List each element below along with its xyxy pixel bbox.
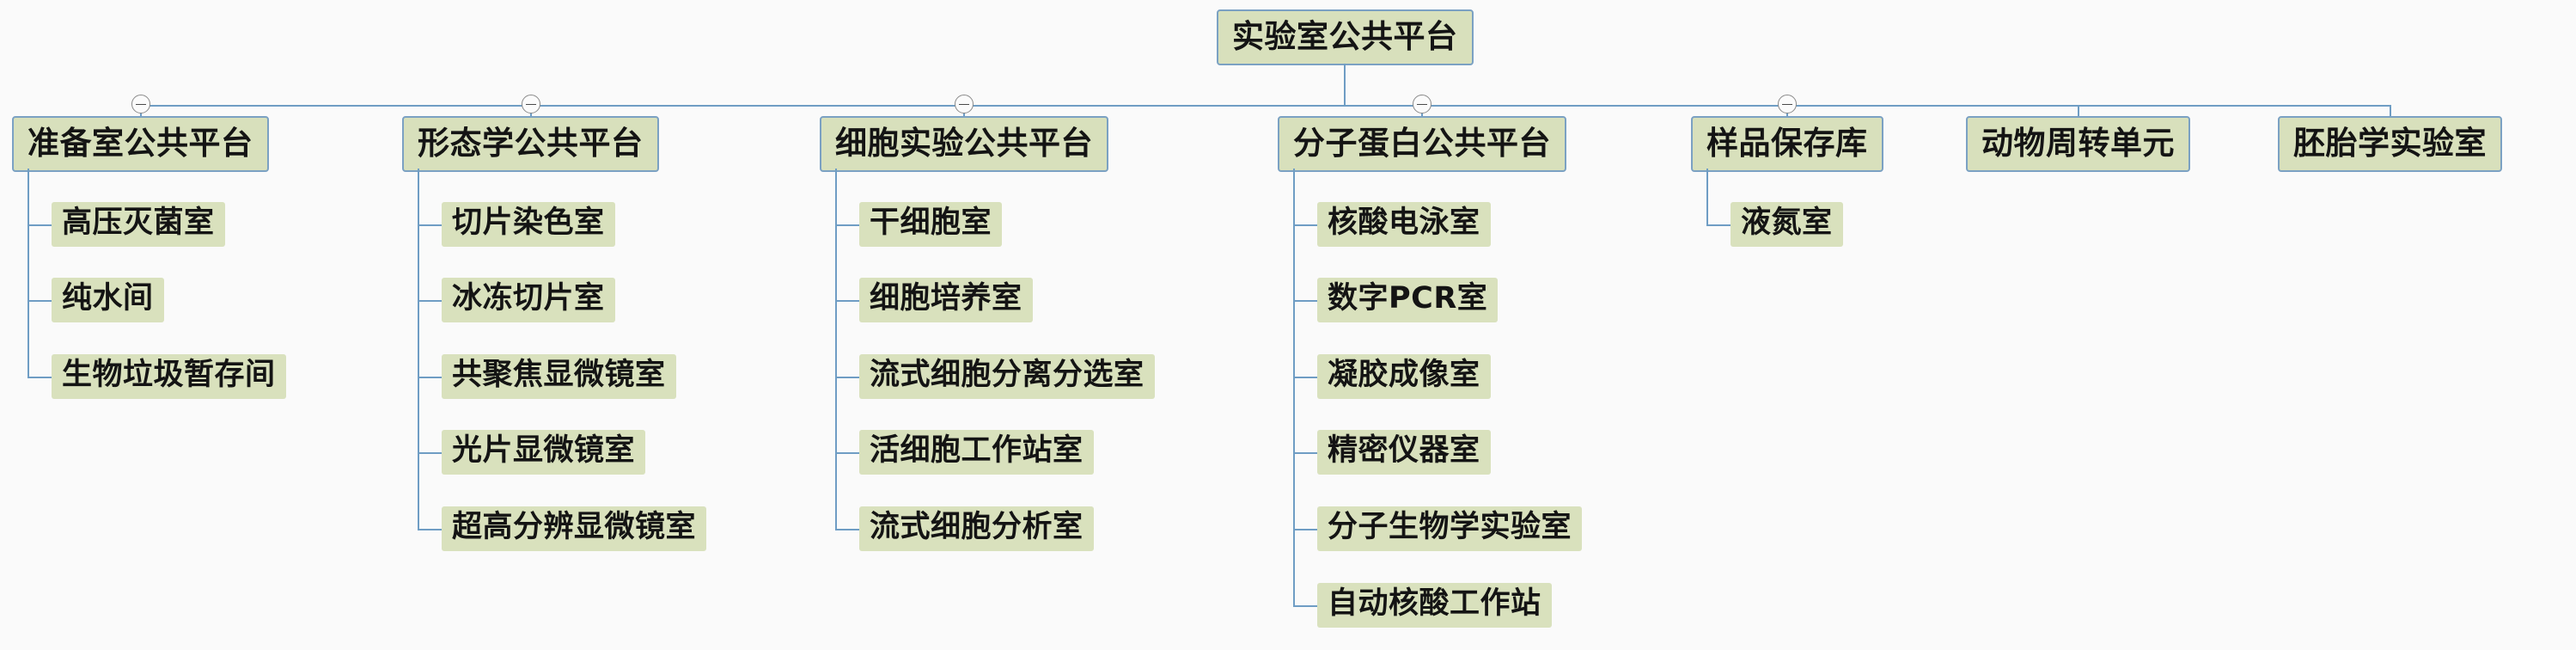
child-stub-connector-3-2 [835,300,859,302]
child-stub-connector-4-1 [1293,224,1317,226]
leaf-node-4-1[interactable]: 核酸电泳室 [1317,202,1491,247]
leaf-node-1-2[interactable]: 纯水间 [52,278,164,322]
collapse-toggle-2[interactable] [522,95,540,113]
child-stub-connector-4-2 [1293,300,1317,302]
leaf-node-2-3[interactable]: 共聚焦显微镜室 [442,354,676,399]
branch-node-6[interactable]: 动物周转单元 [1966,116,2190,172]
branch-stem-connector-6 [2078,105,2079,116]
leaf-node-3-5[interactable]: 流式细胞分析室 [859,506,1094,551]
leaf-node-3-1[interactable]: 干细胞室 [859,202,1002,247]
child-stub-connector-2-5 [418,529,442,530]
leaf-node-5-1[interactable]: 液氮室 [1731,202,1843,247]
child-spine-connector-1 [27,169,29,377]
leaf-node-3-2[interactable]: 细胞培养室 [859,278,1033,322]
child-stub-connector-4-4 [1293,452,1317,454]
child-stub-connector-5-1 [1706,224,1731,226]
child-stub-connector-2-4 [418,452,442,454]
leaf-node-4-4[interactable]: 精密仪器室 [1317,430,1491,475]
collapse-toggle-1[interactable] [131,95,150,113]
branch-stem-connector-7 [2390,105,2391,116]
branch-node-5[interactable]: 样品保存库 [1691,116,1883,172]
child-stub-connector-4-3 [1293,377,1317,378]
branch-node-3[interactable]: 细胞实验公共平台 [820,116,1108,172]
child-stub-connector-4-5 [1293,529,1317,530]
child-stub-connector-1-3 [27,377,52,378]
branch-bus-connector [140,105,2391,107]
leaf-node-3-4[interactable]: 活细胞工作站室 [859,430,1094,475]
child-stub-connector-1-2 [27,300,52,302]
leaf-node-2-4[interactable]: 光片显微镜室 [442,430,645,475]
branch-node-2[interactable]: 形态学公共平台 [402,116,659,172]
child-stub-connector-2-2 [418,300,442,302]
leaf-node-4-5[interactable]: 分子生物学实验室 [1317,506,1582,551]
branch-node-7[interactable]: 胚胎学实验室 [2278,116,2502,172]
child-spine-connector-4 [1293,169,1295,605]
leaf-node-2-1[interactable]: 切片染色室 [442,202,615,247]
root-node[interactable]: 实验室公共平台 [1217,9,1474,65]
branch-node-1[interactable]: 准备室公共平台 [12,116,269,172]
child-stub-connector-3-4 [835,452,859,454]
leaf-node-2-5[interactable]: 超高分辨显微镜室 [442,506,706,551]
child-stub-connector-2-1 [418,224,442,226]
leaf-node-4-6[interactable]: 自动核酸工作站 [1317,583,1552,628]
child-spine-connector-2 [418,169,419,529]
org-chart-canvas: 实验室公共平台准备室公共平台高压灭菌室纯水间生物垃圾暂存间形态学公共平台切片染色… [0,0,2576,650]
branch-node-4[interactable]: 分子蛋白公共平台 [1278,116,1566,172]
child-spine-connector-5 [1706,169,1708,224]
root-stem-connector [1344,64,1346,105]
collapse-toggle-3[interactable] [955,95,974,113]
leaf-node-4-3[interactable]: 凝胶成像室 [1317,354,1491,399]
child-stub-connector-3-5 [835,529,859,530]
child-spine-connector-3 [835,169,837,529]
child-stub-connector-1-1 [27,224,52,226]
leaf-node-1-1[interactable]: 高压灭菌室 [52,202,225,247]
child-stub-connector-2-3 [418,377,442,378]
child-stub-connector-3-3 [835,377,859,378]
leaf-node-1-3[interactable]: 生物垃圾暂存间 [52,354,286,399]
child-stub-connector-4-6 [1293,605,1317,607]
collapse-toggle-4[interactable] [1413,95,1431,113]
collapse-toggle-5[interactable] [1778,95,1797,113]
leaf-node-2-2[interactable]: 冰冻切片室 [442,278,615,322]
child-stub-connector-3-1 [835,224,859,226]
leaf-node-3-3[interactable]: 流式细胞分离分选室 [859,354,1155,399]
leaf-node-4-2[interactable]: 数字PCR室 [1317,278,1498,322]
